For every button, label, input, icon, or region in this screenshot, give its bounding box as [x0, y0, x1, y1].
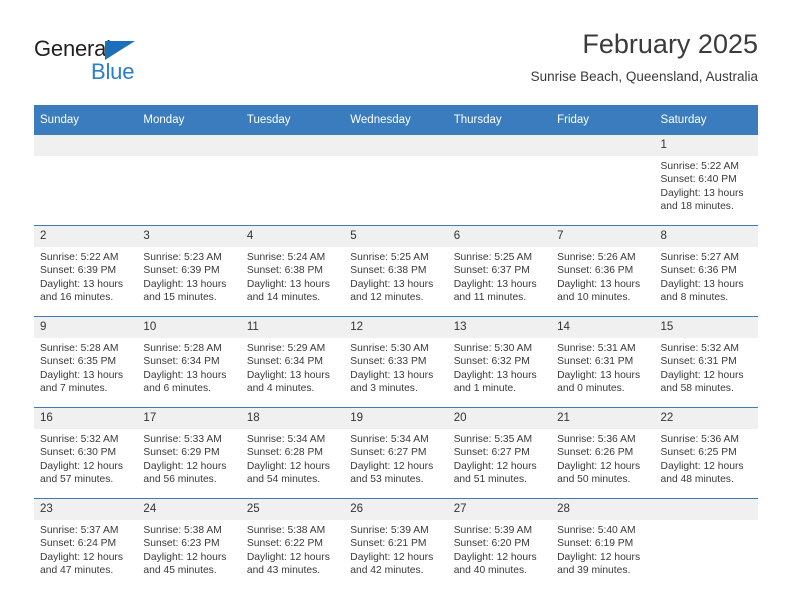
day-cell-inner: 2Sunrise: 5:22 AMSunset: 6:39 PMDaylight… — [34, 226, 137, 316]
calendar-week-row: 9Sunrise: 5:28 AMSunset: 6:35 PMDaylight… — [34, 317, 758, 408]
day-cell-inner: 7Sunrise: 5:26 AMSunset: 6:36 PMDaylight… — [551, 226, 654, 316]
day-cell-inner: 1Sunrise: 5:22 AMSunset: 6:40 PMDaylight… — [655, 135, 758, 225]
calendar-table: SundayMondayTuesdayWednesdayThursdayFrid… — [34, 105, 758, 589]
day-details: Sunrise: 5:28 AMSunset: 6:34 PMDaylight:… — [137, 338, 240, 396]
day-number: 15 — [655, 317, 758, 338]
day-cell-inner: 4Sunrise: 5:24 AMSunset: 6:38 PMDaylight… — [241, 226, 344, 316]
day-cell-inner: 22Sunrise: 5:36 AMSunset: 6:25 PMDayligh… — [655, 408, 758, 498]
day-details: Sunrise: 5:30 AMSunset: 6:33 PMDaylight:… — [344, 338, 447, 396]
day-cell-inner: 25Sunrise: 5:38 AMSunset: 6:22 PMDayligh… — [241, 499, 344, 589]
day-number — [344, 135, 447, 156]
day-number: 22 — [655, 408, 758, 429]
day-number: 8 — [655, 226, 758, 247]
daylight-text: Daylight: 13 hours and 11 minutes. — [454, 278, 545, 305]
day-number: 23 — [34, 499, 137, 520]
calendar-day-cell[interactable]: 18Sunrise: 5:34 AMSunset: 6:28 PMDayligh… — [241, 408, 344, 499]
masthead: General Blue February 2025 Sunrise Beach… — [34, 30, 758, 98]
day-details: Sunrise: 5:30 AMSunset: 6:32 PMDaylight:… — [448, 338, 551, 396]
day-number: 26 — [344, 499, 447, 520]
day-details: Sunrise: 5:38 AMSunset: 6:23 PMDaylight:… — [137, 520, 240, 578]
day-cell-inner: 9Sunrise: 5:28 AMSunset: 6:35 PMDaylight… — [34, 317, 137, 407]
calendar-header-row: SundayMondayTuesdayWednesdayThursdayFrid… — [34, 105, 758, 135]
day-number — [655, 499, 758, 520]
daylight-text: Daylight: 12 hours and 43 minutes. — [247, 551, 338, 578]
sunset-text: Sunset: 6:20 PM — [454, 537, 545, 550]
calendar-day-cell[interactable]: 27Sunrise: 5:39 AMSunset: 6:20 PMDayligh… — [448, 499, 551, 590]
day-cell-inner: 20Sunrise: 5:35 AMSunset: 6:27 PMDayligh… — [448, 408, 551, 498]
calendar-day-cell[interactable]: 25Sunrise: 5:38 AMSunset: 6:22 PMDayligh… — [241, 499, 344, 590]
calendar-page: General Blue February 2025 Sunrise Beach… — [0, 0, 792, 612]
calendar-empty-cell — [551, 135, 654, 226]
sunrise-text: Sunrise: 5:38 AM — [143, 524, 234, 537]
sunset-text: Sunset: 6:34 PM — [143, 355, 234, 368]
daylight-text: Daylight: 12 hours and 53 minutes. — [350, 460, 441, 487]
calendar-day-cell[interactable]: 4Sunrise: 5:24 AMSunset: 6:38 PMDaylight… — [241, 226, 344, 317]
day-details: Sunrise: 5:32 AMSunset: 6:31 PMDaylight:… — [655, 338, 758, 396]
day-number: 13 — [448, 317, 551, 338]
calendar-week-row: 16Sunrise: 5:32 AMSunset: 6:30 PMDayligh… — [34, 408, 758, 499]
calendar-day-cell[interactable]: 16Sunrise: 5:32 AMSunset: 6:30 PMDayligh… — [34, 408, 137, 499]
sunset-text: Sunset: 6:24 PM — [40, 537, 131, 550]
daylight-text: Daylight: 13 hours and 14 minutes. — [247, 278, 338, 305]
sunrise-text: Sunrise: 5:36 AM — [557, 433, 648, 446]
calendar-empty-cell — [137, 135, 240, 226]
sunset-text: Sunset: 6:39 PM — [40, 264, 131, 277]
day-number: 4 — [241, 226, 344, 247]
day-details: Sunrise: 5:39 AMSunset: 6:21 PMDaylight:… — [344, 520, 447, 578]
daylight-text: Daylight: 13 hours and 6 minutes. — [143, 369, 234, 396]
day-number — [551, 135, 654, 156]
day-details: Sunrise: 5:23 AMSunset: 6:39 PMDaylight:… — [137, 247, 240, 305]
day-cell-inner — [448, 135, 551, 225]
day-details: Sunrise: 5:25 AMSunset: 6:37 PMDaylight:… — [448, 247, 551, 305]
day-cell-inner — [137, 135, 240, 225]
day-number: 11 — [241, 317, 344, 338]
day-details: Sunrise: 5:32 AMSunset: 6:30 PMDaylight:… — [34, 429, 137, 487]
day-cell-inner: 13Sunrise: 5:30 AMSunset: 6:32 PMDayligh… — [448, 317, 551, 407]
daylight-text: Daylight: 12 hours and 51 minutes. — [454, 460, 545, 487]
calendar-day-cell[interactable]: 20Sunrise: 5:35 AMSunset: 6:27 PMDayligh… — [448, 408, 551, 499]
weekday-header-saturday: Saturday — [655, 105, 758, 135]
day-number: 18 — [241, 408, 344, 429]
day-cell-inner: 28Sunrise: 5:40 AMSunset: 6:19 PMDayligh… — [551, 499, 654, 589]
day-details: Sunrise: 5:40 AMSunset: 6:19 PMDaylight:… — [551, 520, 654, 578]
daylight-text: Daylight: 13 hours and 4 minutes. — [247, 369, 338, 396]
sunset-text: Sunset: 6:40 PM — [661, 173, 752, 186]
day-cell-inner: 12Sunrise: 5:30 AMSunset: 6:33 PMDayligh… — [344, 317, 447, 407]
calendar-body: 1Sunrise: 5:22 AMSunset: 6:40 PMDaylight… — [34, 135, 758, 590]
day-cell-inner: 23Sunrise: 5:37 AMSunset: 6:24 PMDayligh… — [34, 499, 137, 589]
day-number: 28 — [551, 499, 654, 520]
daylight-text: Daylight: 12 hours and 40 minutes. — [454, 551, 545, 578]
day-cell-inner: 27Sunrise: 5:39 AMSunset: 6:20 PMDayligh… — [448, 499, 551, 589]
calendar-day-cell[interactable]: 6Sunrise: 5:25 AMSunset: 6:37 PMDaylight… — [448, 226, 551, 317]
day-cell-inner: 8Sunrise: 5:27 AMSunset: 6:36 PMDaylight… — [655, 226, 758, 316]
sunset-text: Sunset: 6:35 PM — [40, 355, 131, 368]
day-cell-inner: 6Sunrise: 5:25 AMSunset: 6:37 PMDaylight… — [448, 226, 551, 316]
calendar-empty-cell — [241, 135, 344, 226]
day-cell-inner: 3Sunrise: 5:23 AMSunset: 6:39 PMDaylight… — [137, 226, 240, 316]
sunrise-text: Sunrise: 5:25 AM — [350, 251, 441, 264]
calendar-day-cell[interactable]: 19Sunrise: 5:34 AMSunset: 6:27 PMDayligh… — [344, 408, 447, 499]
sunset-text: Sunset: 6:19 PM — [557, 537, 648, 550]
daylight-text: Daylight: 13 hours and 12 minutes. — [350, 278, 441, 305]
sunset-text: Sunset: 6:32 PM — [454, 355, 545, 368]
page-subtitle: Sunrise Beach, Queensland, Australia — [531, 69, 758, 84]
day-number — [137, 135, 240, 156]
day-number: 17 — [137, 408, 240, 429]
sunset-text: Sunset: 6:39 PM — [143, 264, 234, 277]
sunrise-text: Sunrise: 5:31 AM — [557, 342, 648, 355]
calendar-day-cell[interactable]: 26Sunrise: 5:39 AMSunset: 6:21 PMDayligh… — [344, 499, 447, 590]
sunset-text: Sunset: 6:33 PM — [350, 355, 441, 368]
calendar-day-cell[interactable]: 17Sunrise: 5:33 AMSunset: 6:29 PMDayligh… — [137, 408, 240, 499]
calendar-day-cell[interactable]: 7Sunrise: 5:26 AMSunset: 6:36 PMDaylight… — [551, 226, 654, 317]
daylight-text: Daylight: 12 hours and 54 minutes. — [247, 460, 338, 487]
sunrise-text: Sunrise: 5:33 AM — [143, 433, 234, 446]
sunset-text: Sunset: 6:34 PM — [247, 355, 338, 368]
calendar-week-row: 1Sunrise: 5:22 AMSunset: 6:40 PMDaylight… — [34, 135, 758, 226]
sunrise-text: Sunrise: 5:38 AM — [247, 524, 338, 537]
calendar-day-cell[interactable]: 15Sunrise: 5:32 AMSunset: 6:31 PMDayligh… — [655, 317, 758, 408]
sunrise-text: Sunrise: 5:32 AM — [661, 342, 752, 355]
calendar-day-cell[interactable]: 9Sunrise: 5:28 AMSunset: 6:35 PMDaylight… — [34, 317, 137, 408]
sunrise-text: Sunrise: 5:34 AM — [247, 433, 338, 446]
day-details: Sunrise: 5:34 AMSunset: 6:27 PMDaylight:… — [344, 429, 447, 487]
calendar-empty-cell — [655, 499, 758, 590]
sunrise-text: Sunrise: 5:30 AM — [350, 342, 441, 355]
sunset-text: Sunset: 6:21 PM — [350, 537, 441, 550]
daylight-text: Daylight: 12 hours and 45 minutes. — [143, 551, 234, 578]
day-details: Sunrise: 5:28 AMSunset: 6:35 PMDaylight:… — [34, 338, 137, 396]
daylight-text: Daylight: 12 hours and 39 minutes. — [557, 551, 648, 578]
daylight-text: Daylight: 13 hours and 15 minutes. — [143, 278, 234, 305]
day-number: 16 — [34, 408, 137, 429]
daylight-text: Daylight: 12 hours and 42 minutes. — [350, 551, 441, 578]
calendar-day-cell[interactable]: 11Sunrise: 5:29 AMSunset: 6:34 PMDayligh… — [241, 317, 344, 408]
calendar-day-cell[interactable]: 10Sunrise: 5:28 AMSunset: 6:34 PMDayligh… — [137, 317, 240, 408]
daylight-text: Daylight: 13 hours and 3 minutes. — [350, 369, 441, 396]
day-details: Sunrise: 5:22 AMSunset: 6:39 PMDaylight:… — [34, 247, 137, 305]
daylight-text: Daylight: 13 hours and 1 minute. — [454, 369, 545, 396]
day-number: 14 — [551, 317, 654, 338]
calendar-day-cell[interactable]: 13Sunrise: 5:30 AMSunset: 6:32 PMDayligh… — [448, 317, 551, 408]
calendar-empty-cell — [34, 135, 137, 226]
sunrise-text: Sunrise: 5:40 AM — [557, 524, 648, 537]
sunset-text: Sunset: 6:27 PM — [454, 446, 545, 459]
calendar-day-cell[interactable]: 3Sunrise: 5:23 AMSunset: 6:39 PMDaylight… — [137, 226, 240, 317]
sunrise-text: Sunrise: 5:22 AM — [661, 160, 752, 173]
day-details: Sunrise: 5:29 AMSunset: 6:34 PMDaylight:… — [241, 338, 344, 396]
daylight-text: Daylight: 13 hours and 0 minutes. — [557, 369, 648, 396]
day-details: Sunrise: 5:27 AMSunset: 6:36 PMDaylight:… — [655, 247, 758, 305]
sunset-text: Sunset: 6:37 PM — [454, 264, 545, 277]
daylight-text: Daylight: 12 hours and 56 minutes. — [143, 460, 234, 487]
sunset-text: Sunset: 6:31 PM — [557, 355, 648, 368]
sunset-text: Sunset: 6:29 PM — [143, 446, 234, 459]
weekday-header-thursday: Thursday — [448, 105, 551, 135]
sunrise-text: Sunrise: 5:37 AM — [40, 524, 131, 537]
day-number: 2 — [34, 226, 137, 247]
day-cell-inner: 26Sunrise: 5:39 AMSunset: 6:21 PMDayligh… — [344, 499, 447, 589]
sunset-text: Sunset: 6:30 PM — [40, 446, 131, 459]
sunrise-text: Sunrise: 5:25 AM — [454, 251, 545, 264]
day-number: 1 — [655, 135, 758, 156]
calendar-empty-cell — [344, 135, 447, 226]
calendar-day-cell[interactable]: 14Sunrise: 5:31 AMSunset: 6:31 PMDayligh… — [551, 317, 654, 408]
calendar-day-cell[interactable]: 21Sunrise: 5:36 AMSunset: 6:26 PMDayligh… — [551, 408, 654, 499]
day-details: Sunrise: 5:26 AMSunset: 6:36 PMDaylight:… — [551, 247, 654, 305]
daylight-text: Daylight: 12 hours and 58 minutes. — [661, 369, 752, 396]
day-details: Sunrise: 5:31 AMSunset: 6:31 PMDaylight:… — [551, 338, 654, 396]
daylight-text: Daylight: 13 hours and 8 minutes. — [661, 278, 752, 305]
sunrise-text: Sunrise: 5:35 AM — [454, 433, 545, 446]
calendar-empty-cell — [448, 135, 551, 226]
day-cell-inner — [34, 135, 137, 225]
sunset-text: Sunset: 6:23 PM — [143, 537, 234, 550]
sunrise-text: Sunrise: 5:23 AM — [143, 251, 234, 264]
page-title: February 2025 — [531, 30, 758, 60]
day-details: Sunrise: 5:33 AMSunset: 6:29 PMDaylight:… — [137, 429, 240, 487]
calendar-day-cell[interactable]: 28Sunrise: 5:40 AMSunset: 6:19 PMDayligh… — [551, 499, 654, 590]
day-cell-inner: 10Sunrise: 5:28 AMSunset: 6:34 PMDayligh… — [137, 317, 240, 407]
daylight-text: Daylight: 12 hours and 57 minutes. — [40, 460, 131, 487]
day-cell-inner: 19Sunrise: 5:34 AMSunset: 6:27 PMDayligh… — [344, 408, 447, 498]
daylight-text: Daylight: 12 hours and 50 minutes. — [557, 460, 648, 487]
day-details: Sunrise: 5:35 AMSunset: 6:27 PMDaylight:… — [448, 429, 551, 487]
sunset-text: Sunset: 6:38 PM — [247, 264, 338, 277]
calendar-day-cell[interactable]: 5Sunrise: 5:25 AMSunset: 6:38 PMDaylight… — [344, 226, 447, 317]
daylight-text: Daylight: 12 hours and 48 minutes. — [661, 460, 752, 487]
weekday-header-sunday: Sunday — [34, 105, 137, 135]
sunset-text: Sunset: 6:25 PM — [661, 446, 752, 459]
day-details: Sunrise: 5:36 AMSunset: 6:25 PMDaylight:… — [655, 429, 758, 487]
sunrise-text: Sunrise: 5:39 AM — [350, 524, 441, 537]
day-cell-inner: 17Sunrise: 5:33 AMSunset: 6:29 PMDayligh… — [137, 408, 240, 498]
calendar-day-cell[interactable]: 23Sunrise: 5:37 AMSunset: 6:24 PMDayligh… — [34, 499, 137, 590]
day-cell-inner: 21Sunrise: 5:36 AMSunset: 6:26 PMDayligh… — [551, 408, 654, 498]
sunset-text: Sunset: 6:27 PM — [350, 446, 441, 459]
weekday-header-wednesday: Wednesday — [344, 105, 447, 135]
weekday-header-friday: Friday — [551, 105, 654, 135]
day-number: 7 — [551, 226, 654, 247]
triangle-icon — [105, 41, 135, 60]
day-details: Sunrise: 5:37 AMSunset: 6:24 PMDaylight:… — [34, 520, 137, 578]
calendar-day-cell[interactable]: 1Sunrise: 5:22 AMSunset: 6:40 PMDaylight… — [655, 135, 758, 226]
day-cell-inner — [344, 135, 447, 225]
day-details: Sunrise: 5:36 AMSunset: 6:26 PMDaylight:… — [551, 429, 654, 487]
day-cell-inner: 5Sunrise: 5:25 AMSunset: 6:38 PMDaylight… — [344, 226, 447, 316]
daylight-text: Daylight: 13 hours and 16 minutes. — [40, 278, 131, 305]
sunrise-text: Sunrise: 5:24 AM — [247, 251, 338, 264]
sunrise-text: Sunrise: 5:34 AM — [350, 433, 441, 446]
day-cell-inner: 24Sunrise: 5:38 AMSunset: 6:23 PMDayligh… — [137, 499, 240, 589]
daylight-text: Daylight: 13 hours and 10 minutes. — [557, 278, 648, 305]
day-cell-inner: 18Sunrise: 5:34 AMSunset: 6:28 PMDayligh… — [241, 408, 344, 498]
day-number — [34, 135, 137, 156]
day-number — [448, 135, 551, 156]
day-details: Sunrise: 5:24 AMSunset: 6:38 PMDaylight:… — [241, 247, 344, 305]
day-number: 24 — [137, 499, 240, 520]
day-details: Sunrise: 5:22 AMSunset: 6:40 PMDaylight:… — [655, 156, 758, 214]
sunset-text: Sunset: 6:22 PM — [247, 537, 338, 550]
daylight-text: Daylight: 13 hours and 18 minutes. — [661, 187, 752, 214]
day-cell-inner — [241, 135, 344, 225]
day-number: 3 — [137, 226, 240, 247]
sunrise-text: Sunrise: 5:32 AM — [40, 433, 131, 446]
calendar-week-row: 23Sunrise: 5:37 AMSunset: 6:24 PMDayligh… — [34, 499, 758, 590]
sunrise-text: Sunrise: 5:39 AM — [454, 524, 545, 537]
sunrise-text: Sunrise: 5:22 AM — [40, 251, 131, 264]
general-blue-logo[interactable]: General Blue — [34, 36, 234, 92]
day-details: Sunrise: 5:25 AMSunset: 6:38 PMDaylight:… — [344, 247, 447, 305]
sunset-text: Sunset: 6:36 PM — [557, 264, 648, 277]
day-number: 21 — [551, 408, 654, 429]
day-number: 10 — [137, 317, 240, 338]
sunrise-text: Sunrise: 5:28 AM — [143, 342, 234, 355]
sunrise-text: Sunrise: 5:29 AM — [247, 342, 338, 355]
day-number — [241, 135, 344, 156]
day-number: 25 — [241, 499, 344, 520]
day-cell-inner: 16Sunrise: 5:32 AMSunset: 6:30 PMDayligh… — [34, 408, 137, 498]
sunset-text: Sunset: 6:26 PM — [557, 446, 648, 459]
day-number: 27 — [448, 499, 551, 520]
day-cell-inner — [551, 135, 654, 225]
weekday-header-tuesday: Tuesday — [241, 105, 344, 135]
sunset-text: Sunset: 6:38 PM — [350, 264, 441, 277]
day-number: 20 — [448, 408, 551, 429]
sunrise-text: Sunrise: 5:26 AM — [557, 251, 648, 264]
sunrise-text: Sunrise: 5:27 AM — [661, 251, 752, 264]
calendar-day-cell[interactable]: 24Sunrise: 5:38 AMSunset: 6:23 PMDayligh… — [137, 499, 240, 590]
logo-text-blue: Blue — [91, 59, 134, 85]
day-cell-inner: 11Sunrise: 5:29 AMSunset: 6:34 PMDayligh… — [241, 317, 344, 407]
calendar-week-row: 2Sunrise: 5:22 AMSunset: 6:39 PMDaylight… — [34, 226, 758, 317]
weekday-headers: SundayMondayTuesdayWednesdayThursdayFrid… — [34, 105, 758, 135]
day-number: 6 — [448, 226, 551, 247]
day-cell-inner — [655, 499, 758, 589]
calendar-day-cell[interactable]: 12Sunrise: 5:30 AMSunset: 6:33 PMDayligh… — [344, 317, 447, 408]
calendar-day-cell[interactable]: 8Sunrise: 5:27 AMSunset: 6:36 PMDaylight… — [655, 226, 758, 317]
calendar-day-cell[interactable]: 2Sunrise: 5:22 AMSunset: 6:39 PMDaylight… — [34, 226, 137, 317]
calendar-day-cell[interactable]: 22Sunrise: 5:36 AMSunset: 6:25 PMDayligh… — [655, 408, 758, 499]
sunrise-text: Sunrise: 5:36 AM — [661, 433, 752, 446]
day-details: Sunrise: 5:38 AMSunset: 6:22 PMDaylight:… — [241, 520, 344, 578]
weekday-header-monday: Monday — [137, 105, 240, 135]
sunrise-text: Sunrise: 5:28 AM — [40, 342, 131, 355]
day-details: Sunrise: 5:34 AMSunset: 6:28 PMDaylight:… — [241, 429, 344, 487]
day-cell-inner: 15Sunrise: 5:32 AMSunset: 6:31 PMDayligh… — [655, 317, 758, 407]
day-details: Sunrise: 5:39 AMSunset: 6:20 PMDaylight:… — [448, 520, 551, 578]
daylight-text: Daylight: 12 hours and 47 minutes. — [40, 551, 131, 578]
daylight-text: Daylight: 13 hours and 7 minutes. — [40, 369, 131, 396]
day-number: 19 — [344, 408, 447, 429]
day-number: 5 — [344, 226, 447, 247]
sunset-text: Sunset: 6:31 PM — [661, 355, 752, 368]
day-number: 9 — [34, 317, 137, 338]
day-cell-inner: 14Sunrise: 5:31 AMSunset: 6:31 PMDayligh… — [551, 317, 654, 407]
day-number: 12 — [344, 317, 447, 338]
sunset-text: Sunset: 6:36 PM — [661, 264, 752, 277]
sunset-text: Sunset: 6:28 PM — [247, 446, 338, 459]
sunrise-text: Sunrise: 5:30 AM — [454, 342, 545, 355]
title-block: February 2025 Sunrise Beach, Queensland,… — [531, 30, 758, 84]
